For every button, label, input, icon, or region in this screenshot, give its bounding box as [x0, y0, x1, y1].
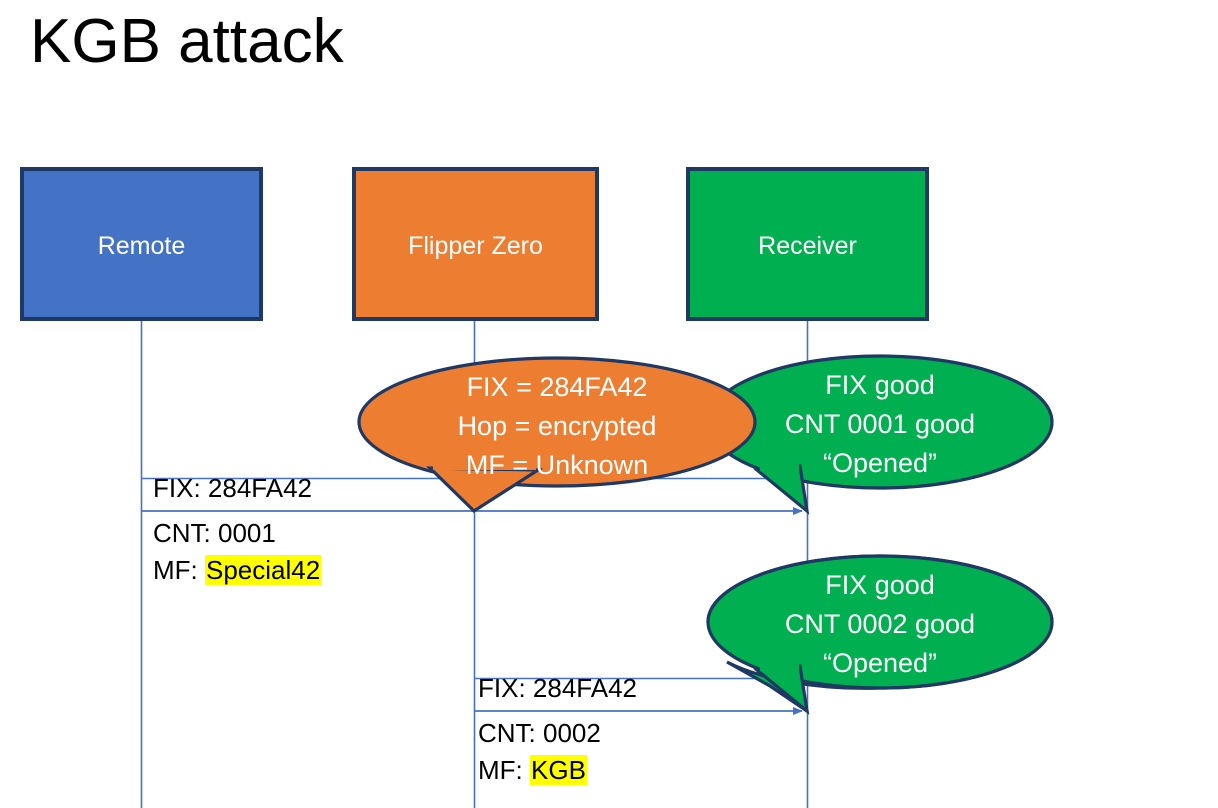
message-1-line-cnt: CNT: 0001	[153, 515, 321, 552]
slide-canvas: KGB attack	[0, 0, 1218, 808]
message-2-line-cnt: CNT: 0002	[478, 715, 637, 752]
message-2-line-fix: FIX: 284FA42	[478, 670, 637, 707]
message-2-labels: FIX: 284FA42 CNT: 0002 MF: KGB	[478, 670, 637, 789]
message-2-mf-value: KGB	[530, 755, 587, 785]
callout-flipper-line-1: FIX = 284FA42	[359, 368, 755, 407]
message-1-mf-value: Special42	[205, 555, 321, 585]
callout-flipper-text: FIX = 284FA42 Hop = encrypted MF = Unkno…	[359, 368, 755, 485]
callout-receiver-2-text: FIX good CNT 0002 good “Opened”	[714, 566, 1046, 683]
message-2-fix-label: FIX:	[478, 673, 533, 703]
message-2-cnt-label: CNT:	[478, 718, 543, 748]
callout-receiver-2-line-3: “Opened”	[714, 644, 1046, 683]
message-1-cnt-label: CNT:	[153, 518, 218, 548]
message-1-fix-value: 284FA42	[208, 473, 312, 503]
message-2-line-mf: MF: KGB	[478, 752, 637, 789]
callout-flipper-line-2: Hop = encrypted	[359, 407, 755, 446]
callout-receiver-2-line-1: FIX good	[714, 566, 1046, 605]
message-2-fix-value: 284FA42	[533, 673, 637, 703]
message-1-cnt-value: 0001	[218, 518, 276, 548]
message-1-line-fix: FIX: 284FA42	[153, 470, 321, 507]
message-2-mf-label: MF:	[478, 755, 530, 785]
callout-receiver-1-line-3: “Opened”	[714, 444, 1046, 483]
message-1-labels: FIX: 284FA42 CNT: 0001 MF: Special42	[153, 470, 321, 589]
actor-label-flipper: Flipper Zero	[354, 231, 597, 261]
message-2-cnt-value: 0002	[543, 718, 601, 748]
message-1-line-mf: MF: Special42	[153, 552, 321, 589]
callout-receiver-1-text: FIX good CNT 0001 good “Opened”	[714, 366, 1046, 483]
callout-receiver-1-line-1: FIX good	[714, 366, 1046, 405]
callout-receiver-2-line-2: CNT 0002 good	[714, 605, 1046, 644]
callout-receiver-1-line-2: CNT 0001 good	[714, 405, 1046, 444]
actor-label-remote: Remote	[22, 231, 261, 261]
message-1-fix-label: FIX:	[153, 473, 208, 503]
actor-label-receiver: Receiver	[688, 231, 927, 261]
callout-flipper-line-3: MF = Unknown	[359, 446, 755, 485]
message-1-mf-label: MF:	[153, 555, 205, 585]
